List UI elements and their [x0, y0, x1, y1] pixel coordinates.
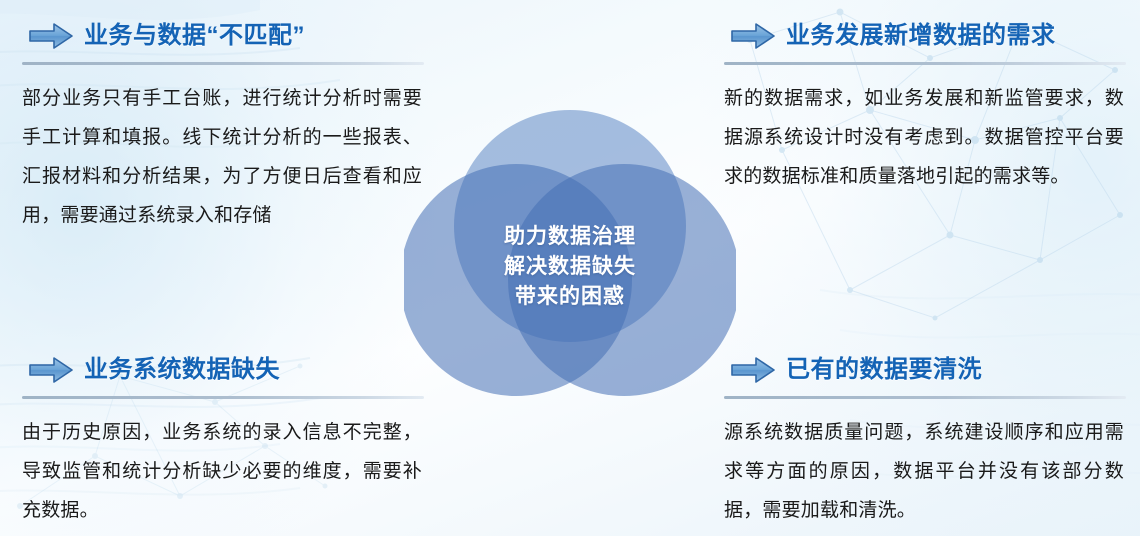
- quadrant-top-right: 业务发展新增数据的需求 新的数据需求，如业务发展和新监管要求，数据源系统设计时没…: [724, 14, 1138, 196]
- quadrant-title: 已有的数据要清洗: [786, 358, 982, 382]
- quadrant-bottom-left: 业务系统数据缺失 由于历史原因，业务系统的录入信息不完整，导致监管和统计分析缺少…: [22, 348, 436, 530]
- quadrant-body: 源系统数据质量问题，系统建设顺序和应用需求等方面的原因，数据平台并没有该部分数据…: [724, 413, 1124, 530]
- quadrant-heading: 业务系统数据缺失: [22, 348, 436, 392]
- quadrant-grid: 业务与数据“不匹配” 部分业务只有手工台账，进行统计分析时需要手工计算和填报。线…: [0, 0, 1140, 536]
- quadrant-title: 业务与数据“不匹配”: [84, 24, 305, 48]
- heading-rule: [22, 62, 424, 65]
- arrow-right-icon: [28, 355, 74, 385]
- quadrant-body: 由于历史原因，业务系统的录入信息不完整，导致监管和统计分析缺少必要的维度，需要补…: [22, 413, 422, 530]
- quadrant-bottom-right: 已有的数据要清洗 源系统数据质量问题，系统建设顺序和应用需求等方面的原因，数据平…: [724, 348, 1138, 530]
- arrow-right-icon: [730, 21, 776, 51]
- quadrant-heading: 业务发展新增数据的需求: [724, 14, 1138, 58]
- arrow-right-icon: [730, 355, 776, 385]
- quadrant-title: 业务系统数据缺失: [84, 358, 280, 382]
- quadrant-body: 部分业务只有手工台账，进行统计分析时需要手工计算和填报。线下统计分析的一些报表、…: [22, 79, 422, 235]
- quadrant-heading: 业务与数据“不匹配”: [22, 14, 436, 58]
- heading-rule: [22, 396, 424, 399]
- slide-canvas: 助力数据治理 解决数据缺失 带来的困惑: [0, 0, 1140, 536]
- quadrant-heading: 已有的数据要清洗: [724, 348, 1138, 392]
- quadrant-body: 新的数据需求，如业务发展和新监管要求，数据源系统设计时没有考虑到。数据管控平台要…: [724, 79, 1124, 196]
- arrow-right-icon: [28, 21, 74, 51]
- quadrant-title: 业务发展新增数据的需求: [786, 24, 1056, 48]
- quadrant-top-left: 业务与数据“不匹配” 部分业务只有手工台账，进行统计分析时需要手工计算和填报。线…: [22, 14, 436, 235]
- heading-rule: [724, 62, 1126, 65]
- heading-rule: [724, 396, 1126, 399]
